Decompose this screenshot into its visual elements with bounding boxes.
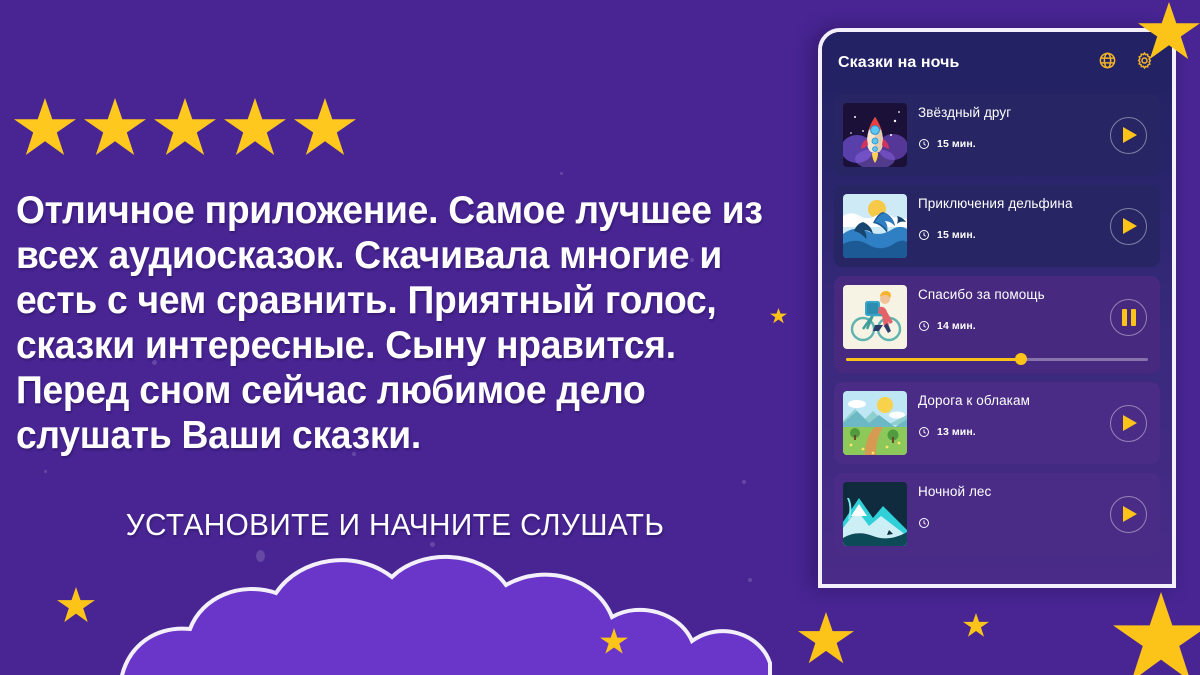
- gear-icon[interactable]: [1135, 51, 1154, 75]
- track-meta: 14 мин.: [918, 320, 1106, 332]
- star-icon: [224, 98, 286, 158]
- track-duration: 15 мин.: [937, 138, 976, 150]
- track-list: Звёздный друг 15 мин.: [822, 94, 1172, 555]
- play-icon[interactable]: [1110, 405, 1147, 442]
- track-row-5[interactable]: Ночной лес: [834, 473, 1160, 555]
- track-meta: [918, 517, 1106, 529]
- play-icon[interactable]: [1110, 208, 1147, 245]
- star-icon: [14, 98, 76, 158]
- progress-fill: [846, 358, 1021, 361]
- playback-progress-slider[interactable]: [846, 353, 1148, 365]
- play-icon[interactable]: [1110, 496, 1147, 533]
- star-bottom-right: [1113, 592, 1200, 675]
- track-meta: 15 мин.: [918, 138, 1106, 150]
- track-title: Дорога к облакам: [918, 393, 1106, 408]
- star-icon: [294, 98, 356, 158]
- track-row-2[interactable]: Приключения дельфина 15 мин.: [834, 185, 1160, 267]
- track-title: Приключения дельфина: [918, 196, 1106, 211]
- track-row-3[interactable]: Спасибо за помощь 14 мин.: [834, 276, 1160, 373]
- app-header: Сказки на ночь: [822, 32, 1172, 94]
- app-title: Сказки на ночь: [838, 54, 1080, 72]
- track-info: Дорога к облакам 13 мин.: [907, 391, 1110, 438]
- cta-label: УСТАНОВИТЕ И НАЧНИТЕ СЛУШАТЬ: [16, 507, 774, 543]
- track-title: Звёздный друг: [918, 105, 1106, 120]
- forest-thumb: [843, 482, 907, 546]
- track-duration: 13 мин.: [937, 426, 976, 438]
- track-row-4[interactable]: Дорога к облакам 13 мин.: [834, 382, 1160, 464]
- road-thumb: [843, 391, 907, 455]
- star-icon: [84, 98, 146, 158]
- phone-mockup: Сказки на ночь: [818, 28, 1176, 588]
- rocket-thumb: [843, 103, 907, 167]
- track-info: Приключения дельфина 15 мин.: [907, 194, 1110, 241]
- clock-icon: [918, 138, 930, 150]
- clock-icon: [918, 517, 930, 529]
- clock-icon: [918, 320, 930, 332]
- cyclist-thumb: [843, 285, 907, 349]
- dolphin-thumb: [843, 194, 907, 258]
- globe-icon[interactable]: [1098, 51, 1117, 75]
- track-row-1[interactable]: Звёздный друг 15 мин.: [834, 94, 1160, 176]
- pause-icon[interactable]: [1110, 299, 1147, 336]
- track-meta: 15 мин.: [918, 229, 1106, 241]
- track-title: Ночной лес: [918, 484, 1106, 499]
- app-screen: Сказки на ночь: [822, 32, 1172, 584]
- track-title: Спасибо за помощь: [918, 287, 1106, 302]
- rating-stars: [14, 98, 356, 158]
- promo-left-panel: Отличное приложение. Самое лучшее из все…: [0, 0, 818, 675]
- star-icon: [154, 98, 216, 158]
- clock-icon: [918, 229, 930, 241]
- clock-icon: [918, 426, 930, 438]
- track-info: Спасибо за помощь 14 мин.: [907, 285, 1110, 332]
- play-icon[interactable]: [1110, 117, 1147, 154]
- track-duration: 15 мин.: [937, 229, 976, 241]
- track-meta: 13 мин.: [918, 426, 1106, 438]
- track-info: Звёздный друг 15 мин.: [907, 103, 1110, 150]
- track-duration: 14 мин.: [937, 320, 976, 332]
- star-cloud-right-small: [963, 613, 989, 638]
- review-text: Отличное приложение. Самое лучшее из все…: [16, 188, 780, 458]
- track-info: Ночной лес: [907, 482, 1110, 529]
- progress-knob[interactable]: [1015, 353, 1027, 365]
